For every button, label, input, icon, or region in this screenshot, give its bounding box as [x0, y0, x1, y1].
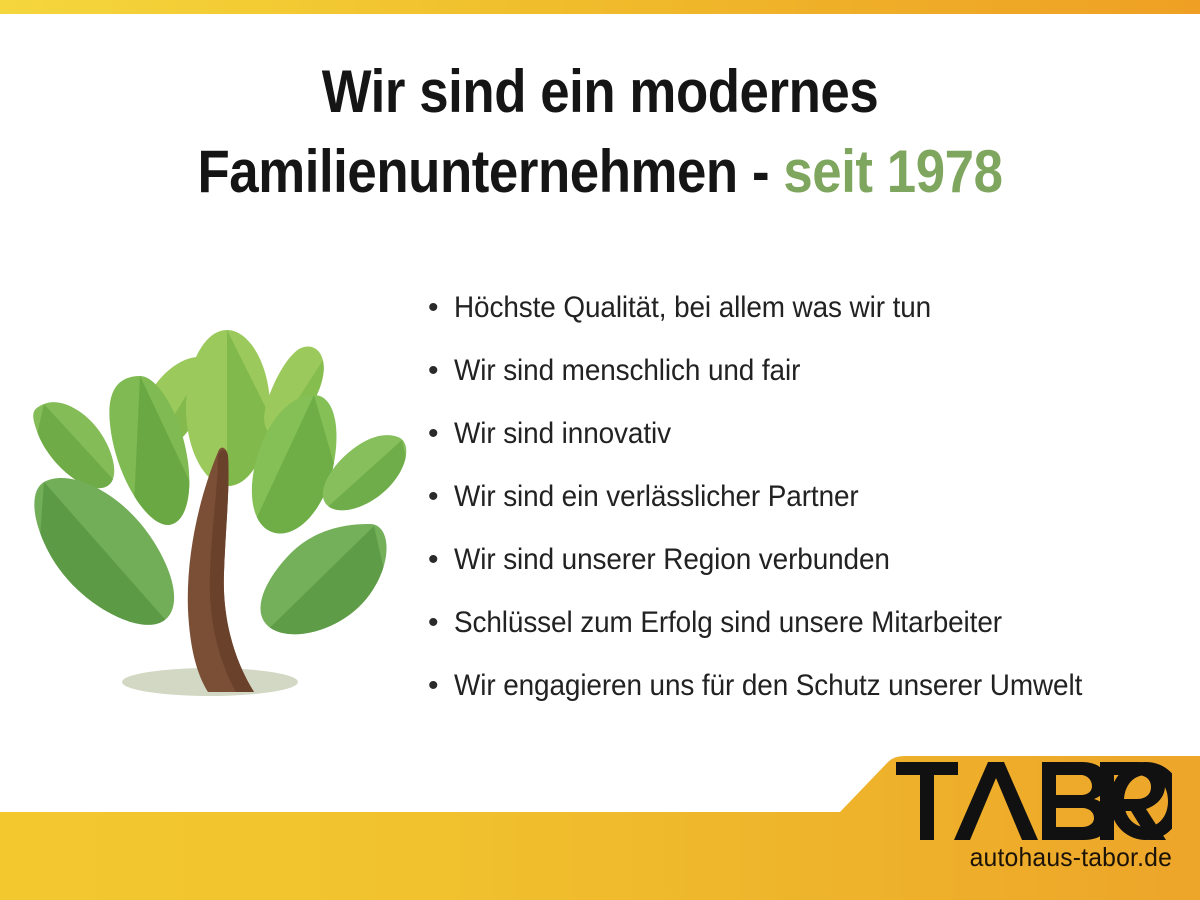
bullet-icon: •	[428, 351, 454, 391]
leaf-lower-right-large	[247, 524, 402, 650]
page-title-line-2-plain: Familienunternehmen -	[197, 138, 783, 205]
page-title-line-1: Wir sind ein modernes	[72, 52, 1128, 132]
page-title-accent: seit 1978	[783, 138, 1002, 205]
brand-logo-wordmark	[882, 762, 1172, 840]
list-item-label: Wir engagieren uns für den Schutz unsere…	[454, 666, 1082, 706]
page-title-line-2: Familienunternehmen - seit 1978	[72, 132, 1128, 212]
list-item: • Höchste Qualität, bei allem was wir tu…	[428, 288, 1188, 351]
list-item: • Wir sind menschlich und fair	[428, 351, 1188, 414]
tree-illustration	[22, 300, 422, 720]
list-item: • Wir sind unserer Region verbunden	[428, 540, 1188, 603]
list-item-label: Wir sind innovativ	[454, 414, 671, 454]
bullet-icon: •	[428, 666, 454, 706]
list-item-label: Schlüssel zum Erfolg sind unsere Mitarbe…	[454, 603, 1002, 643]
bullet-icon: •	[428, 603, 454, 643]
list-item-label: Wir sind unserer Region verbunden	[454, 540, 890, 580]
bullet-icon: •	[428, 414, 454, 454]
bullet-icon: •	[428, 477, 454, 517]
values-list: • Höchste Qualität, bei allem was wir tu…	[428, 288, 1188, 729]
brand-logo-domain[interactable]: autohaus-tabor.de	[897, 842, 1173, 872]
brand-logo[interactable]: autohaus-tabor.de	[882, 762, 1172, 872]
top-accent-bar	[0, 0, 1200, 14]
list-item: • Schlüssel zum Erfolg sind unsere Mitar…	[428, 603, 1188, 666]
bullet-icon: •	[428, 288, 454, 328]
page-title: Wir sind ein modernes Familienunternehme…	[72, 52, 1128, 212]
list-item: • Wir sind ein verlässlicher Partner	[428, 477, 1188, 540]
tree-trunk	[188, 448, 254, 692]
list-item-label: Wir sind menschlich und fair	[454, 351, 800, 391]
list-item: • Wir sind innovativ	[428, 414, 1188, 477]
list-item-label: Höchste Qualität, bei allem was wir tun	[454, 288, 931, 328]
list-item: • Wir engagieren uns für den Schutz unse…	[428, 666, 1188, 729]
list-item-label: Wir sind ein verlässlicher Partner	[454, 477, 859, 517]
bullet-icon: •	[428, 540, 454, 580]
slide-root: Wir sind ein modernes Familienunternehme…	[0, 0, 1200, 900]
